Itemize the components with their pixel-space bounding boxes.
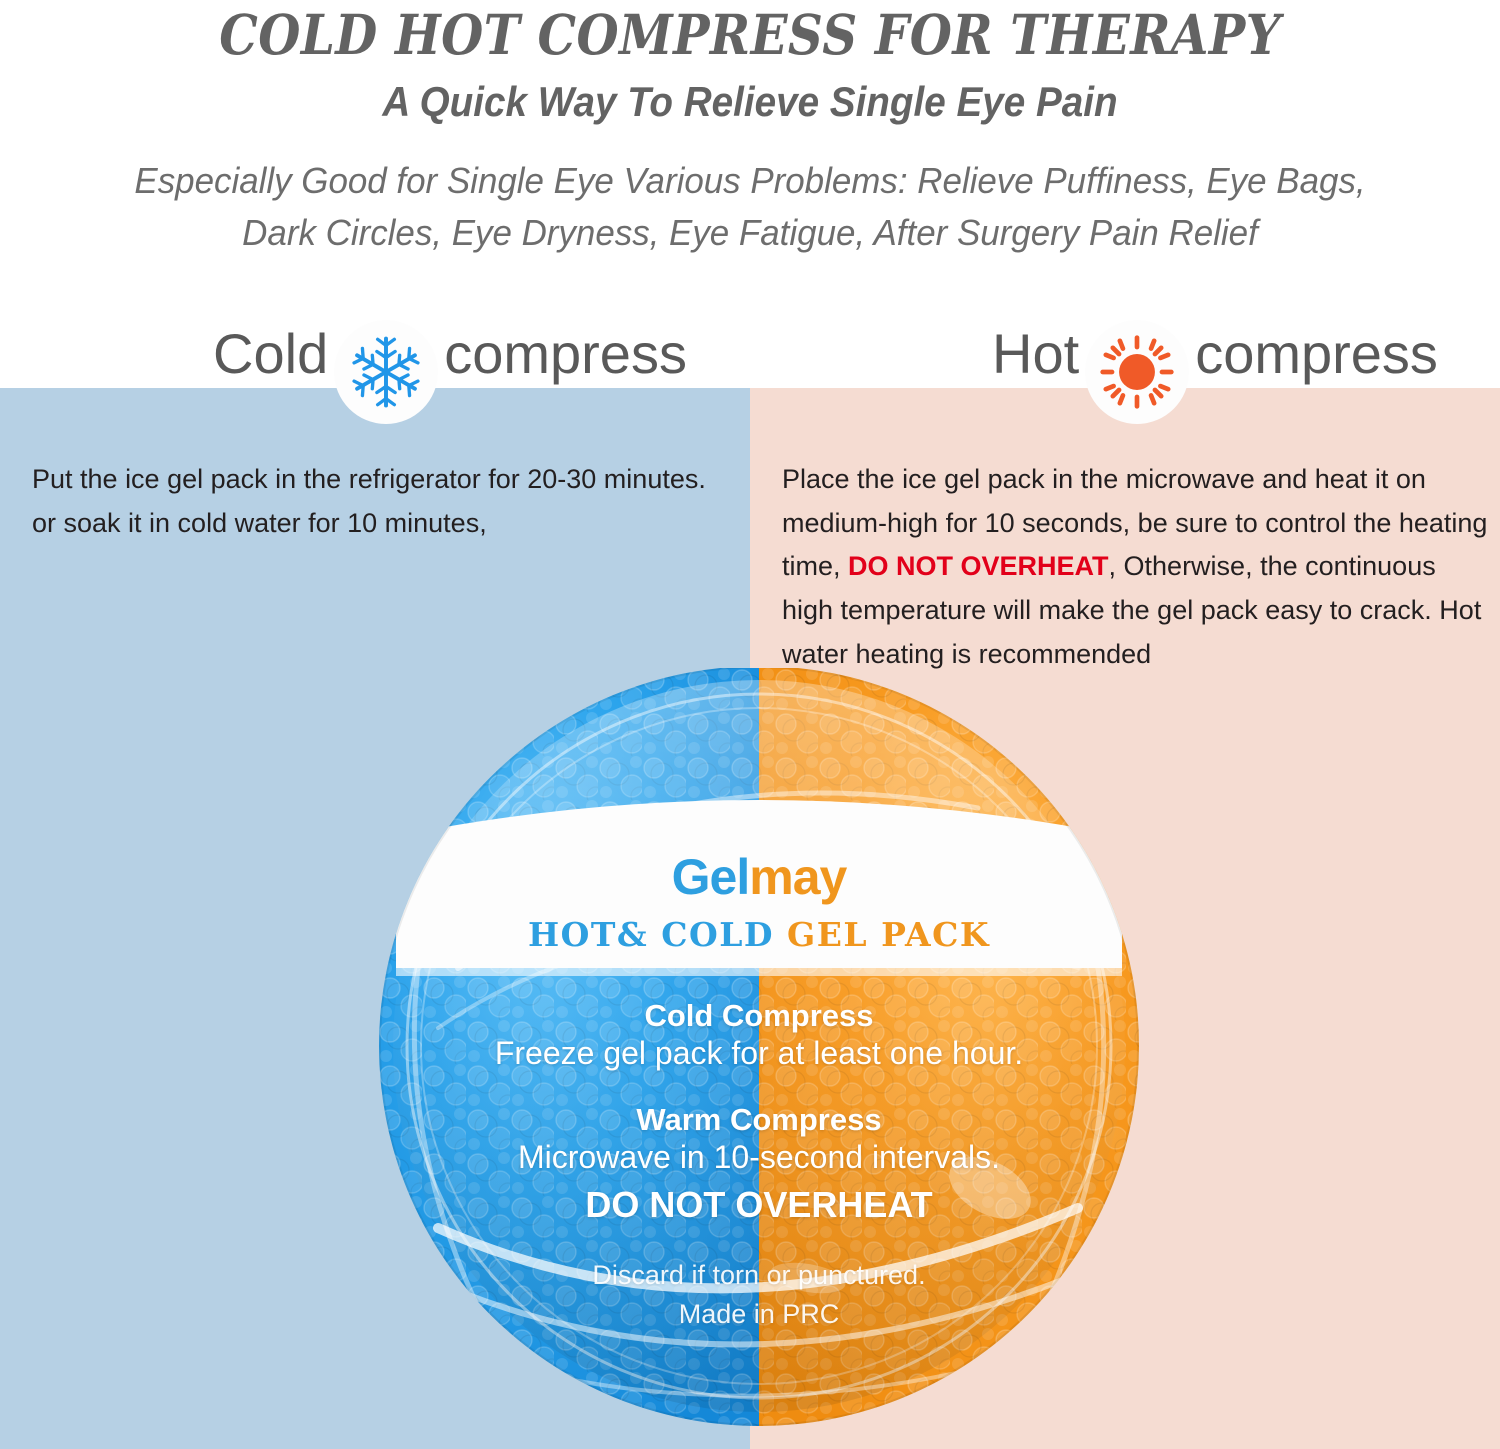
hot-section-heading: Hot compress <box>930 318 1500 390</box>
hot-heading-word-after: compress <box>1195 326 1438 382</box>
cold-section-heading: Cold <box>150 318 750 390</box>
sun-icon <box>1085 320 1189 424</box>
page-title: COLD HOT COMPRESS FOR THERAPY <box>90 2 1410 67</box>
page-tagline: Especially Good for Single Eye Various P… <box>105 155 1395 259</box>
hot-heading-word-before: Hot <box>992 326 1079 382</box>
page-subtitle: A Quick Way To Relieve Single Eye Pain <box>60 78 1440 126</box>
snowflake-icon <box>334 320 438 424</box>
hot-overheat-warning: DO NOT OVERHEAT <box>848 551 1109 581</box>
hot-instructions-text: Place the ice gel pack in the microwave … <box>782 458 1492 677</box>
cold-heading-word-after: compress <box>444 326 687 382</box>
gel-pack-image: Gelmay HOT& COLD GEL PACK Cold Compress … <box>378 668 1140 1430</box>
cold-heading-word-before: Cold <box>213 326 328 382</box>
cold-instructions-text: Put the ice gel pack in the refrigerator… <box>32 458 732 545</box>
